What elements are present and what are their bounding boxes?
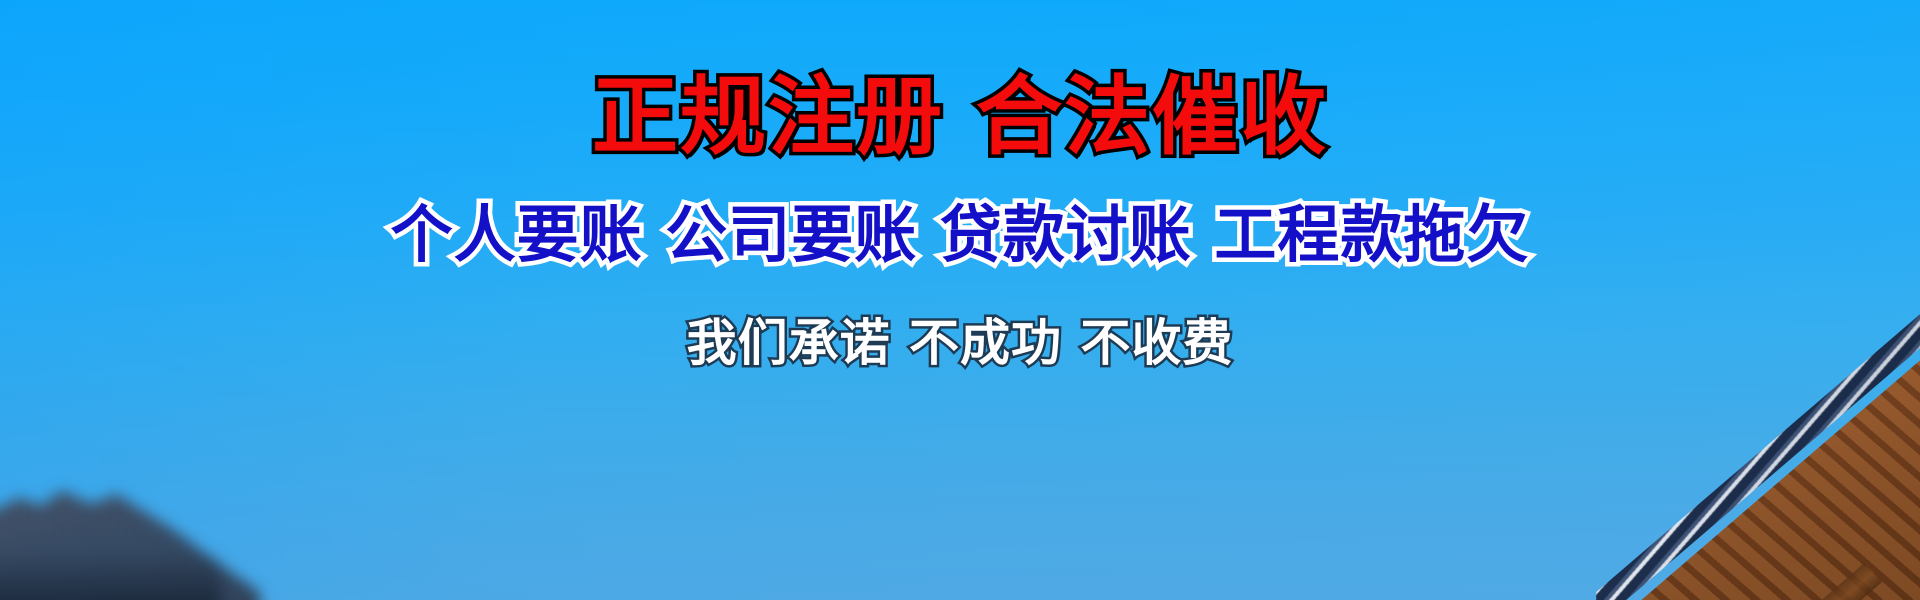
banner-services-list: 个人要账 公司要账 贷款讨账 工程款拖欠 bbox=[391, 204, 1530, 266]
banner-text-stack: 正规注册 合法催收 个人要账 公司要账 贷款讨账 工程款拖欠 我们承诺 不成功 … bbox=[0, 0, 1920, 600]
banner-headline: 正规注册 合法催收 bbox=[592, 74, 1328, 160]
advertisement-banner: 正规注册 合法催收 个人要账 公司要账 贷款讨账 工程款拖欠 我们承诺 不成功 … bbox=[0, 0, 1920, 600]
banner-promise-tagline: 我们承诺 不成功 不收费 bbox=[687, 318, 1234, 368]
